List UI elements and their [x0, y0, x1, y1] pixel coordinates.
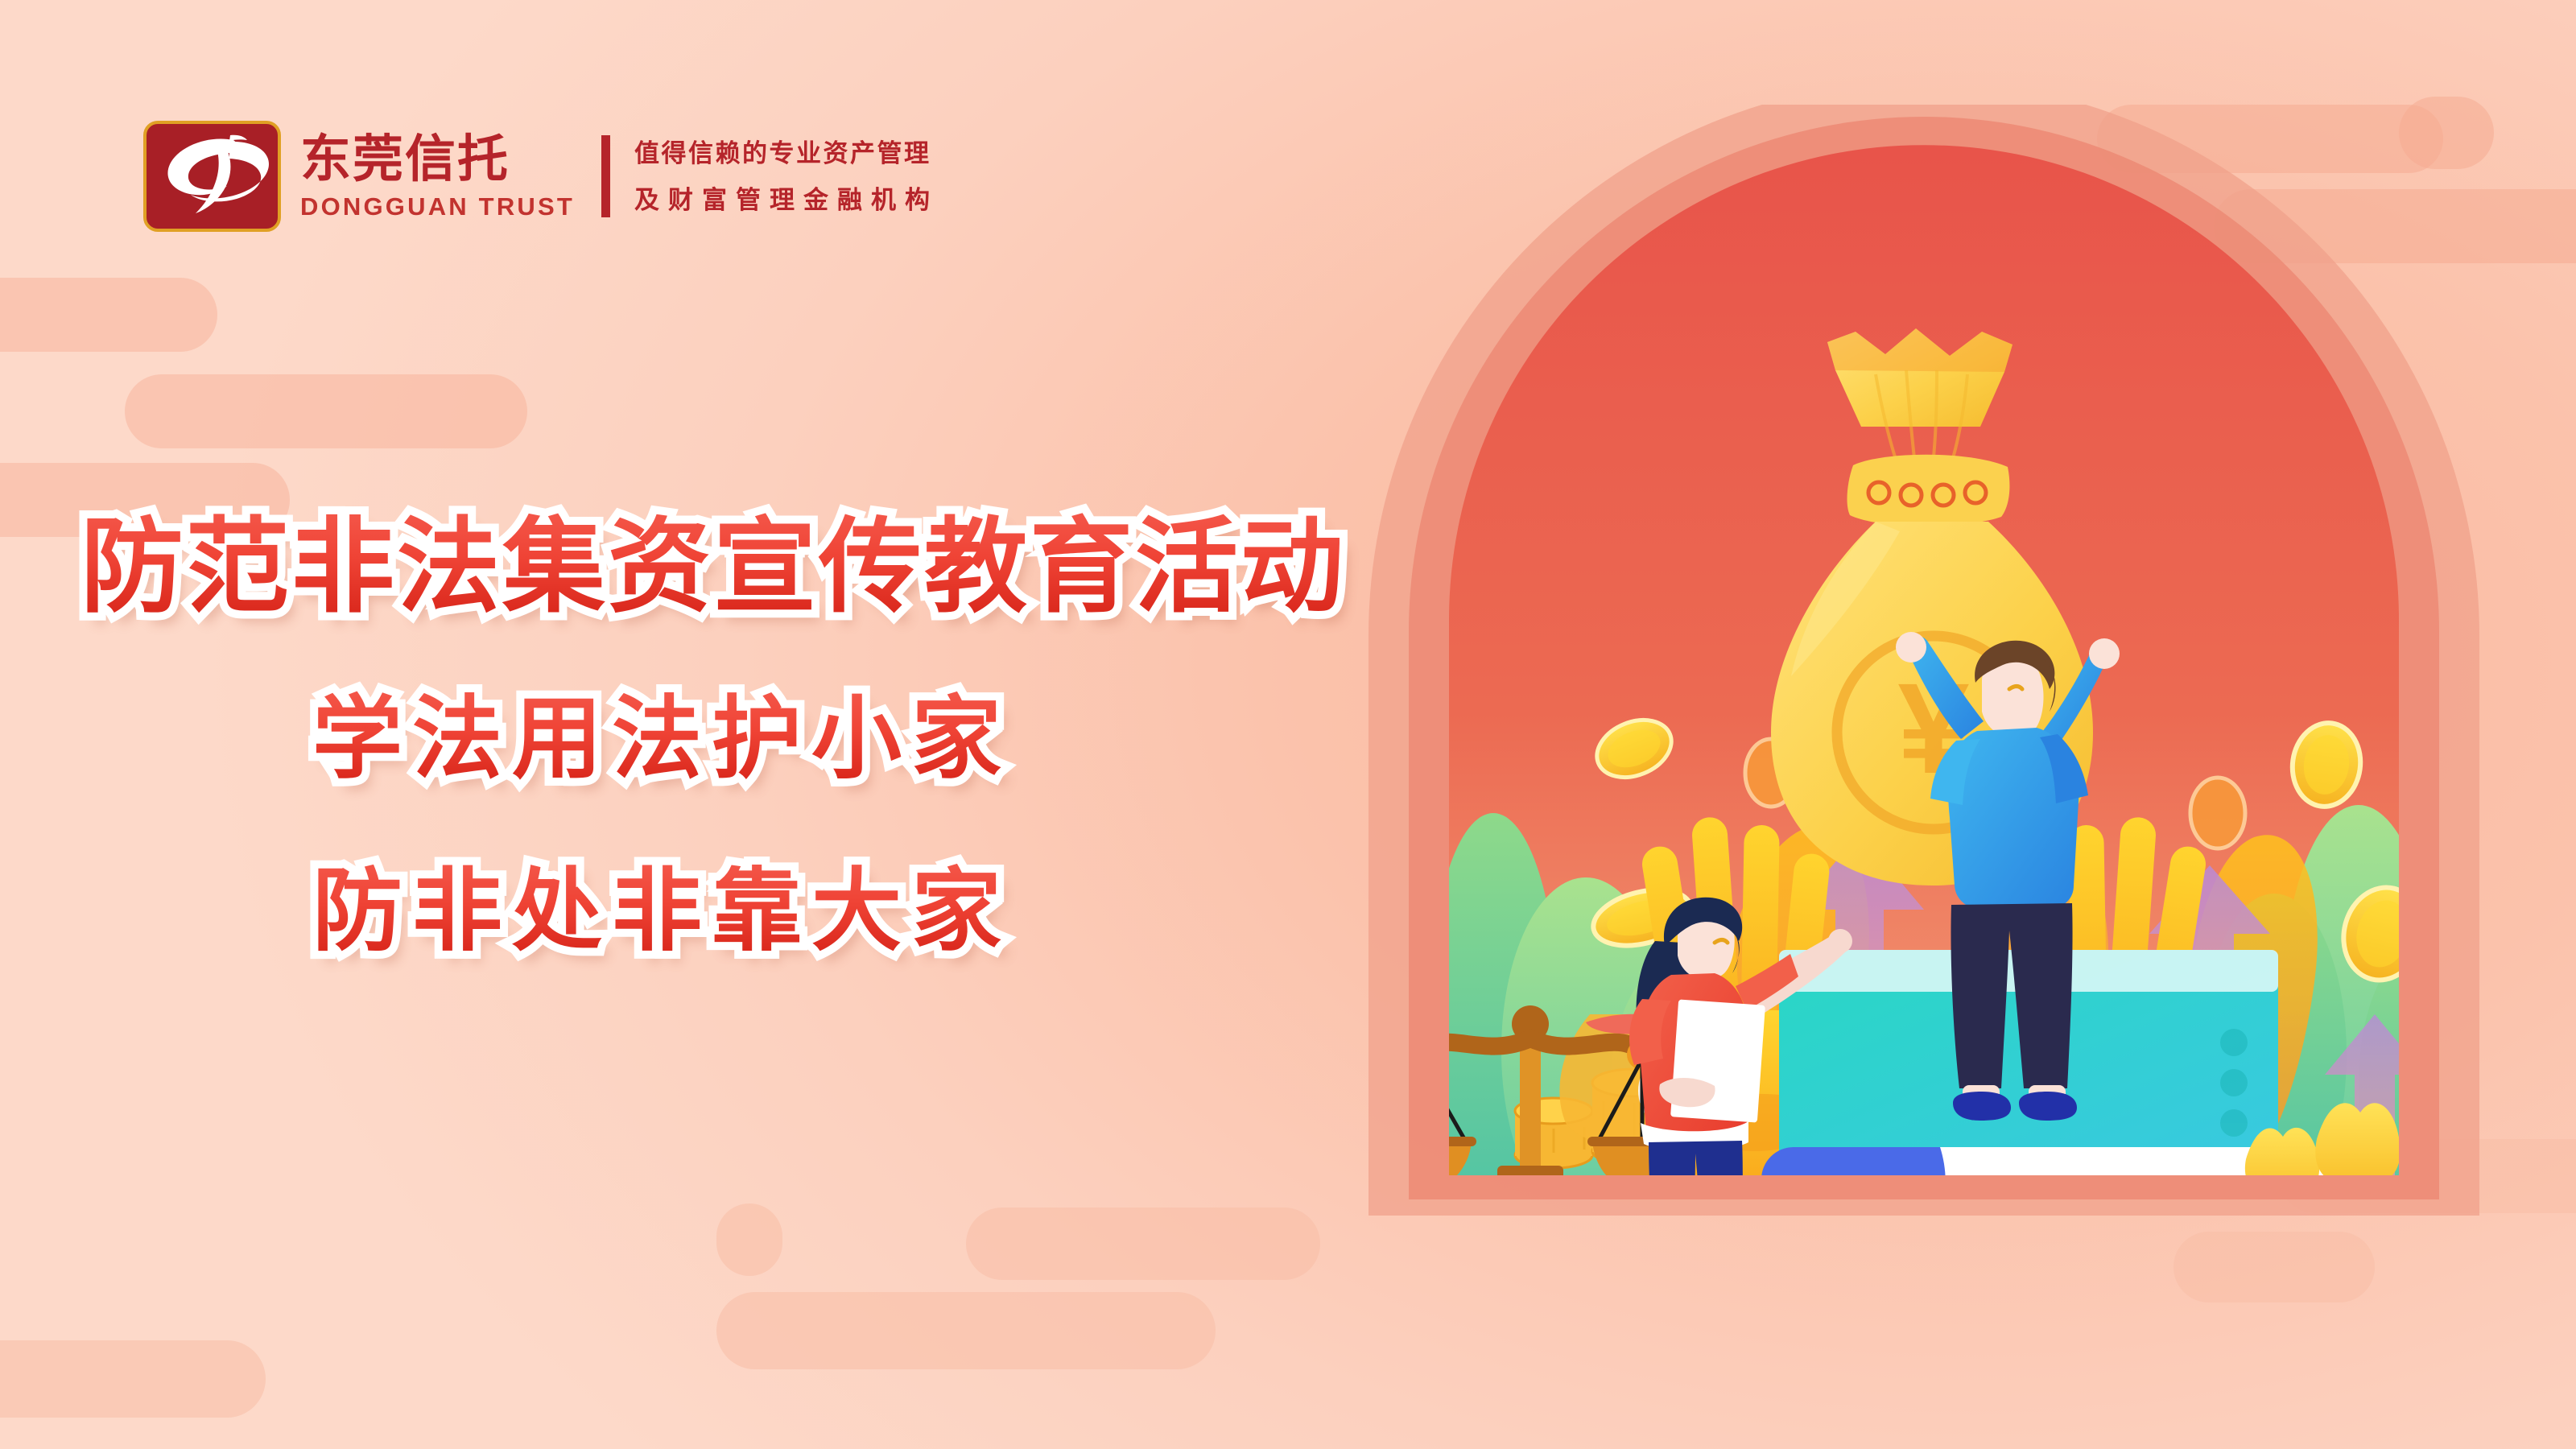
brand-wordmark: 东莞信托 DONGGUAN TRUST	[300, 134, 575, 219]
tagline-line-1: 值得信赖的专业资产管理	[634, 141, 939, 166]
headline-block: 防范非法集资宣传教育活动 防范非法集资宣传教育活动 学法用法护小家 学法用法护小…	[0, 483, 1368, 968]
brand-tagline: 值得信赖的专业资产管理 及财富管理金融机构	[634, 141, 939, 213]
pill-bottom-left	[0, 1340, 266, 1418]
pill-bottom-long	[716, 1292, 1216, 1369]
tagline-line-2: 及财富管理金融机构	[634, 188, 939, 213]
vertical-divider	[601, 135, 610, 217]
brand-logo-block: 东莞信托 DONGGUAN TRUST 值得信赖的专业资产管理 及财富管理金融机…	[143, 121, 939, 232]
headline-line-2-wrapper: 学法用法护小家 学法用法护小家	[0, 666, 1368, 796]
dongguan-trust-swirl-logo-icon	[143, 121, 281, 232]
promotional-banner: 东莞信托 DONGGUAN TRUST 值得信赖的专业资产管理 及财富管理金融机…	[0, 0, 2576, 1449]
brand-name-cn: 东莞信托	[300, 134, 575, 185]
pill-top-left-long	[125, 374, 527, 448]
headline-line-2: 学法用法护小家	[312, 688, 1011, 789]
anti-illegal-fundraising-finance-illustration: ¥	[1320, 105, 2528, 1328]
headline-line-3: 防非处非靠大家	[312, 861, 1011, 961]
pill-bottom-right-bar	[966, 1207, 1320, 1280]
headline-line-1: 防范非法集资宣传教育活动	[80, 510, 1346, 625]
headline-line-1-wrapper: 防范非法集资宣传教育活动 防范非法集资宣传教育活动	[0, 483, 1368, 632]
brand-name-en: DONGGUAN TRUST	[300, 194, 575, 219]
pill-top-left-bar	[0, 278, 217, 352]
headline-line-3-wrapper: 防非处非靠大家 防非处非靠大家	[0, 838, 1368, 968]
pill-bottom-dot	[716, 1203, 782, 1276]
